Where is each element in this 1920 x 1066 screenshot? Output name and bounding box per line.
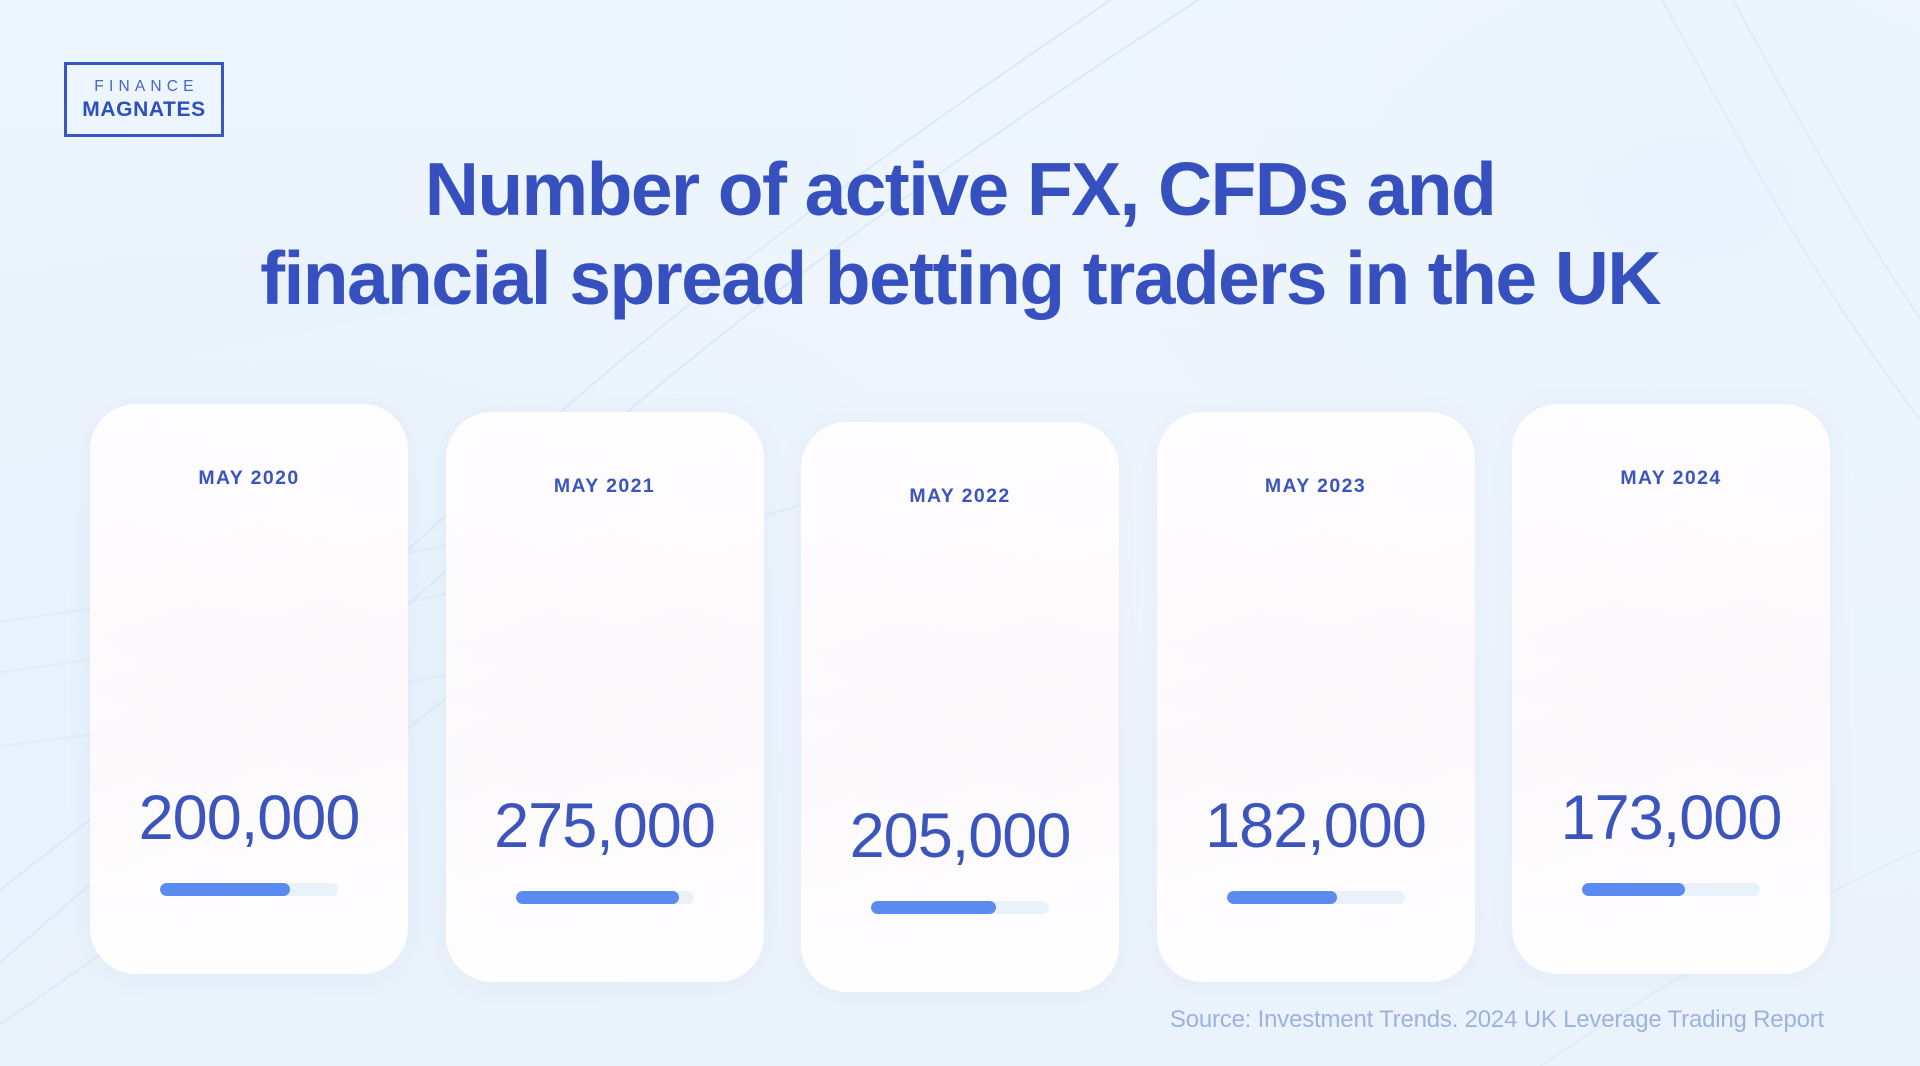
source-caption: Source: Investment Trends. 2024 UK Lever… <box>1170 1006 1824 1034</box>
logo-text-finance: FINANCE <box>89 78 198 96</box>
stat-card-progress-track <box>871 901 1049 914</box>
stat-card-progress-track <box>1227 891 1405 904</box>
stat-card-may-2022: MAY 2022 205,000 <box>801 422 1119 992</box>
stat-card-progress-track <box>1582 883 1760 896</box>
stat-card-value: 275,000 <box>494 795 715 858</box>
stat-card-may-2023: MAY 2023 182,000 <box>1157 412 1475 982</box>
page-title-line-2: financial spread betting traders in the … <box>60 241 1860 316</box>
logo-text-magnates: MAGNATES <box>82 98 205 122</box>
stat-card-label: MAY 2022 <box>909 485 1010 508</box>
stat-card-label: MAY 2023 <box>1265 475 1366 498</box>
stat-card-may-2021: MAY 2021 275,000 <box>446 412 764 982</box>
stat-card-progress-track <box>516 891 694 904</box>
stat-card-progress-fill <box>516 891 680 904</box>
page-title: Number of active FX, CFDs and financial … <box>0 152 1920 316</box>
stat-card-label: MAY 2024 <box>1620 467 1721 490</box>
stat-card-label: MAY 2020 <box>198 467 299 490</box>
page-title-line-1: Number of active FX, CFDs and <box>60 152 1860 227</box>
stat-card-value: 182,000 <box>1205 795 1426 858</box>
stat-card-value: 200,000 <box>139 787 360 850</box>
stat-card-progress-track <box>160 883 338 896</box>
stat-card-row: MAY 2020 200,000 MAY 2021 275,000 MAY 20… <box>90 404 1830 992</box>
stat-card-progress-fill <box>871 901 996 914</box>
stat-card-may-2020: MAY 2020 200,000 <box>90 404 408 974</box>
stat-card-progress-fill <box>1582 883 1685 896</box>
stat-card-progress-fill <box>1227 891 1337 904</box>
stat-card-value: 173,000 <box>1561 787 1782 850</box>
stat-card-progress-fill <box>160 883 290 896</box>
stat-card-may-2024: MAY 2024 173,000 <box>1512 404 1830 974</box>
stat-card-label: MAY 2021 <box>554 475 655 498</box>
stat-card-value: 205,000 <box>850 805 1071 868</box>
brand-logo: FINANCE MAGNATES <box>64 62 224 137</box>
